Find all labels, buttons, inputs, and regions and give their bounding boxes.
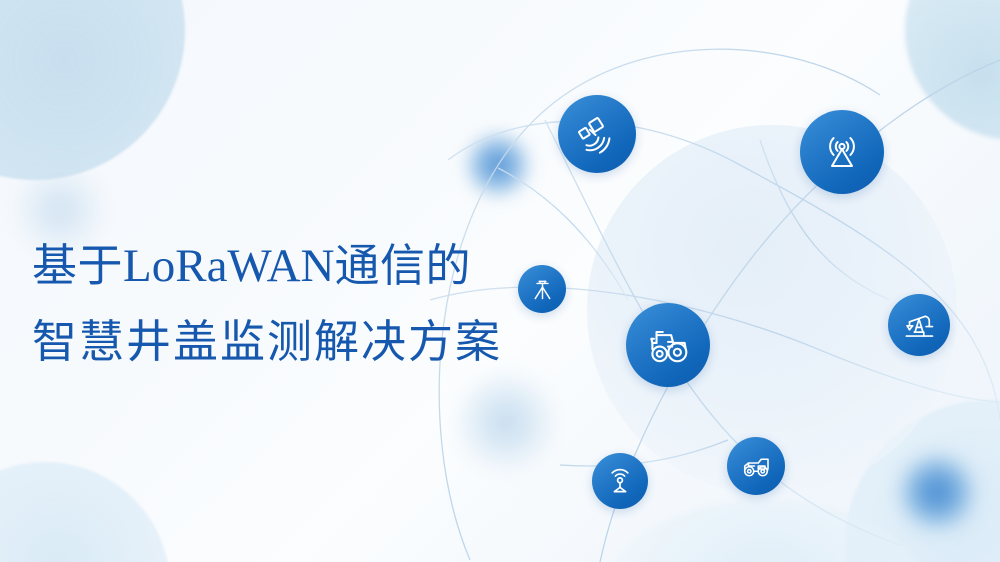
title-line-2: 智慧井盖监测解决方案 [32,304,552,379]
tractor-icon [643,320,693,370]
title-suffix: 通信的 [334,240,471,291]
oil-pumpjack-icon [900,306,938,344]
node-wireless-sensor[interactable] [592,453,648,509]
title-block: 基于LoRaWAN通信的 智慧井盖监测解决方案 [32,228,552,379]
title-prefix: 基于 [32,240,123,291]
harvester-icon [738,448,774,484]
radio-tower-icon [818,128,866,176]
slide-canvas: 基于LoRaWAN通信的 智慧井盖监测解决方案 [0,0,1000,562]
title-line-1: 基于LoRaWAN通信的 [32,228,552,304]
node-tractor[interactable] [626,303,710,387]
node-radio-tower[interactable] [800,110,884,194]
title-latin-lorawan: LoRaWAN [123,240,334,292]
wireless-sensor-icon [603,464,637,498]
node-harvester[interactable] [727,437,785,495]
satellite-signal-icon [574,111,620,157]
node-oil-pump[interactable] [888,294,950,356]
node-satellite[interactable] [558,95,636,173]
